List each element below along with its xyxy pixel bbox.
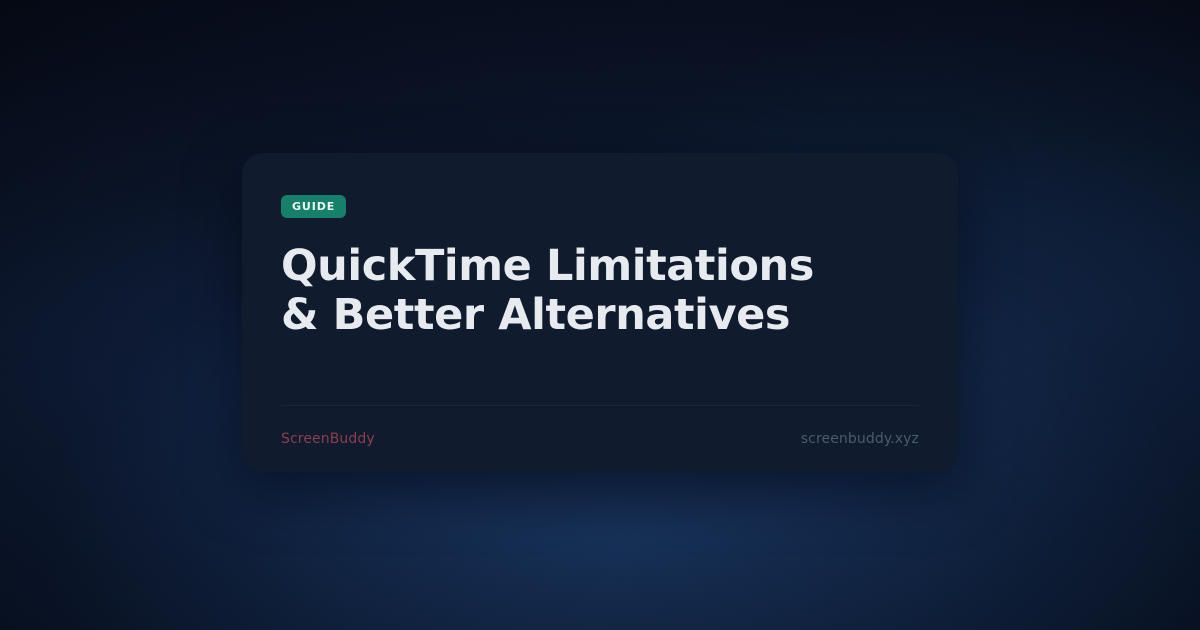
page-title: QuickTime Limitations & Better Alternati… [281,242,851,340]
card-footer: ScreenBuddy screenbuddy.xyz [281,405,919,472]
category-badge: GUIDE [281,195,346,218]
share-card: GUIDE QuickTime Limitations & Better Alt… [242,153,958,472]
site-url: screenbuddy.xyz [801,431,919,447]
badge-row: GUIDE [281,195,919,218]
brand-name: ScreenBuddy [281,431,375,447]
